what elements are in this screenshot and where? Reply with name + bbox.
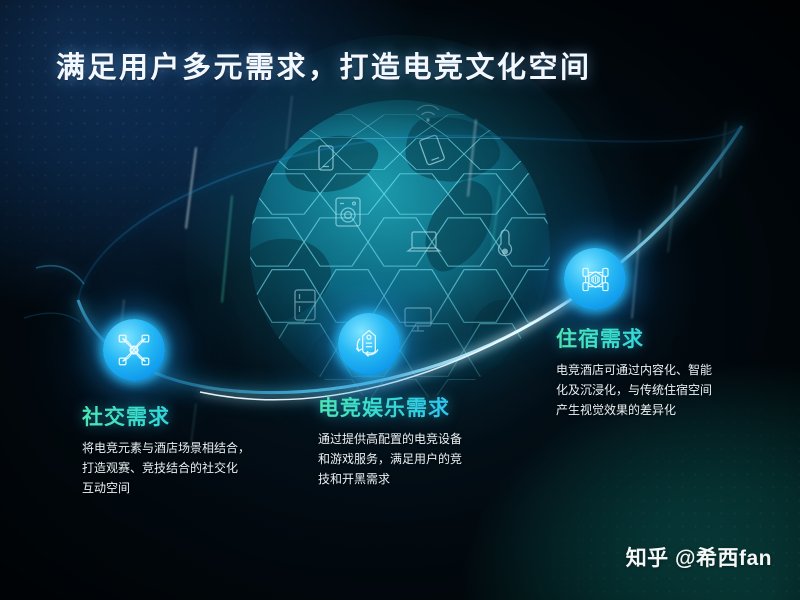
page-title: 满足用户多元需求，打造电竞文化空间 bbox=[56, 44, 592, 86]
card-accommodation-title: 住宿需求 bbox=[556, 328, 771, 351]
node-social-circle[interactable] bbox=[103, 319, 165, 381]
scene-illustration bbox=[0, 0, 800, 600]
node-esports-circle[interactable] bbox=[338, 313, 400, 375]
social-network-icon bbox=[115, 331, 153, 369]
card-social-title: 社交需求 bbox=[82, 406, 302, 429]
node-accommodation-circle[interactable] bbox=[564, 248, 626, 310]
slide-canvas: 满足用户多元需求，打造电竞文化空间 bbox=[0, 0, 800, 600]
node-accommodation[interactable] bbox=[564, 248, 626, 310]
node-social[interactable] bbox=[103, 319, 165, 381]
card-esports-entertainment: 电竞娱乐需求 通过提供高配置的电竞设备 和游戏服务，满足用户的竞 技和开黑需求 bbox=[318, 397, 518, 489]
card-accommodation: 住宿需求 电竞酒店可通过内容化、智能 化及沉浸化，与传统住宿空间 产生视觉效果的… bbox=[556, 328, 771, 420]
card-esports-title: 电竞娱乐需求 bbox=[318, 397, 518, 420]
card-esports-body: 通过提供高配置的电竞设备 和游戏服务，满足用户的竞 技和开黑需求 bbox=[318, 429, 518, 489]
watermark: 知乎 @希西fan bbox=[626, 542, 772, 572]
smart-chip-network-icon bbox=[577, 261, 614, 298]
card-accommodation-body: 电竞酒店可通过内容化、智能 化及沉浸化，与传统住宿空间 产生视觉效果的差异化 bbox=[556, 360, 771, 420]
card-social-body: 将电竞元素与酒店场景相结合， 打造观赛、竞技结合的社交化 互动空间 bbox=[82, 438, 302, 498]
card-social: 社交需求 将电竞元素与酒店场景相结合， 打造观赛、竞技结合的社交化 互动空间 bbox=[82, 406, 302, 498]
node-esports-entertainment[interactable] bbox=[338, 313, 400, 375]
game-device-refresh-icon bbox=[351, 326, 387, 362]
